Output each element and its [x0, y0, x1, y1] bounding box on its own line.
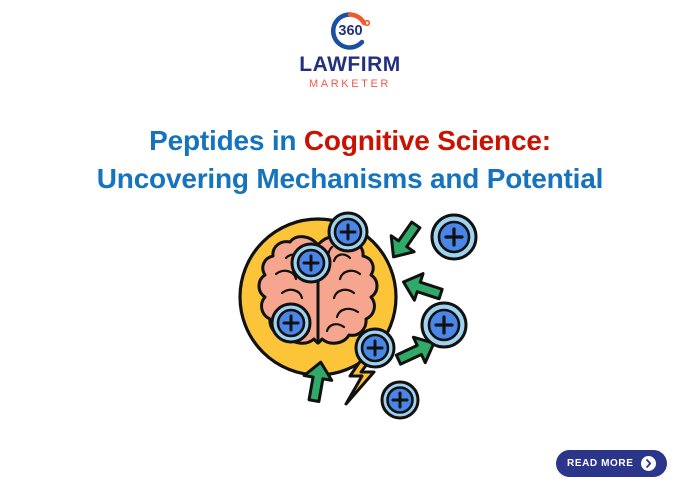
slide-canvas: 360 LAWFIRM MARKETER Peptides in Cogniti… [0, 0, 700, 500]
logo-brand-marketer: MARKETER [309, 79, 391, 90]
peptide-marker [382, 382, 418, 418]
peptide-marker [272, 304, 310, 342]
uptake-arrow [382, 217, 427, 265]
title-line1-segment-blue: Peptides in [149, 125, 304, 156]
peptide-marker [356, 329, 394, 367]
peptide-marker [432, 215, 476, 259]
read-more-label: READ MORE [567, 459, 634, 469]
peptide-marker [422, 303, 466, 347]
svg-text:360: 360 [338, 23, 362, 39]
peptide-marker [329, 213, 367, 251]
logo-360-mark-icon: 360 [323, 10, 377, 52]
peptide-marker [292, 244, 330, 282]
title-line1-segment-red: Cognitive Science: [304, 125, 551, 156]
brand-logo: 360 LAWFIRM MARKETER [0, 10, 700, 90]
chevron-right-icon [641, 456, 656, 471]
read-more-button[interactable]: READ MORE [556, 450, 667, 477]
title-line2: Uncovering Mechanisms and Potential [97, 163, 603, 194]
logo-brand-lawfirm: LAWFIRM [299, 54, 400, 75]
uptake-arrow [399, 269, 445, 308]
page-title: Peptides in Cognitive Science: Uncoverin… [40, 122, 660, 198]
brain-peptide-illustration [230, 200, 500, 430]
